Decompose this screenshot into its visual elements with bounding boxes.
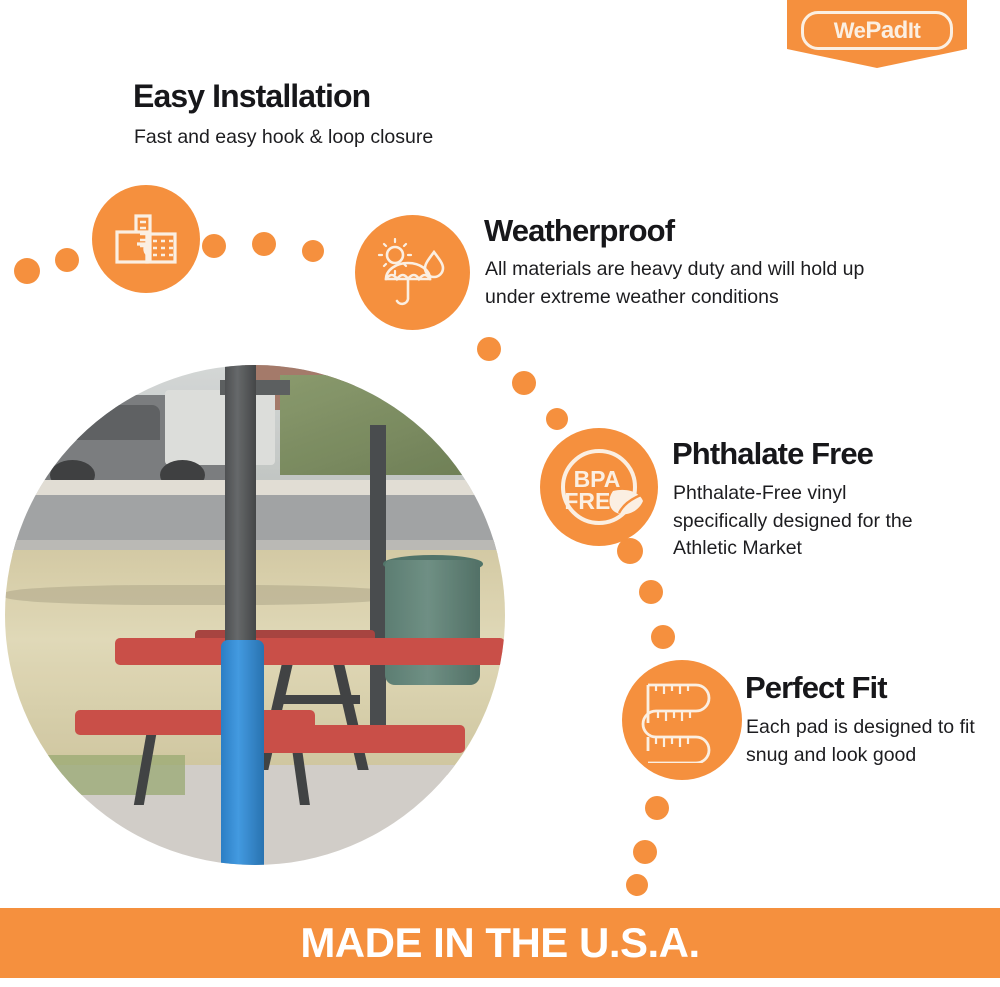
- connector-dot: [477, 337, 501, 361]
- feature-title-weatherproof: Weatherproof: [484, 215, 674, 248]
- connector-dot: [202, 234, 226, 258]
- connector-dot: [546, 408, 568, 430]
- feature-title-phthalate-free: Phthalate Free: [672, 438, 873, 471]
- icon-bubble-phthalate-free: BPA FREE: [540, 428, 658, 546]
- made-in-usa-label: MADE IN THE U.S.A.: [300, 919, 699, 967]
- connector-dot: [252, 232, 276, 256]
- logo-word-we: We: [834, 18, 866, 43]
- bpa-free-leaf-icon: BPA FREE: [551, 439, 647, 535]
- brand-logo[interactable]: WePadIt: [787, 0, 967, 68]
- feature-title-easy-installation: Easy Installation: [133, 80, 370, 114]
- connector-dot: [651, 625, 675, 649]
- connector-dot: [302, 240, 324, 262]
- product-photo: [5, 365, 505, 865]
- connector-dot: [14, 258, 40, 284]
- connector-dot: [617, 538, 643, 564]
- feature-desc-perfect-fit: Each pad is designed to fit snug and loo…: [746, 714, 981, 769]
- feature-desc-phthalate-free: Phthalate-Free vinyl specifically design…: [673, 480, 943, 563]
- connector-dot: [55, 248, 79, 272]
- connector-dot: [633, 840, 657, 864]
- icon-bubble-easy-installation: [92, 185, 200, 293]
- connector-dot: [626, 874, 648, 896]
- feature-desc-weatherproof: All materials are heavy duty and will ho…: [485, 256, 905, 311]
- connector-dot: [639, 580, 663, 604]
- logo-word-pad: Pad: [865, 17, 908, 44]
- logo-word-it: It: [908, 18, 920, 43]
- measuring-tape-icon: [640, 677, 724, 763]
- connector-dot: [512, 371, 536, 395]
- product-feature-infographic: WePadIt Easy Installation Fast and easy …: [0, 0, 1000, 987]
- sun-umbrella-raindrop-icon: [376, 238, 450, 308]
- icon-bubble-perfect-fit: [622, 660, 742, 780]
- made-in-usa-banner: MADE IN THE U.S.A.: [0, 908, 1000, 978]
- logo-wordmark: WePadIt: [834, 19, 921, 43]
- building-installation-icon: [114, 210, 178, 268]
- photo-overlay: [5, 365, 505, 865]
- connector-dot: [645, 796, 669, 820]
- feature-desc-easy-installation: Fast and easy hook & loop closure: [134, 124, 554, 152]
- logo-outline-box: WePadIt: [801, 11, 953, 50]
- feature-title-perfect-fit: Perfect Fit: [745, 672, 887, 705]
- icon-bubble-weatherproof: [355, 215, 470, 330]
